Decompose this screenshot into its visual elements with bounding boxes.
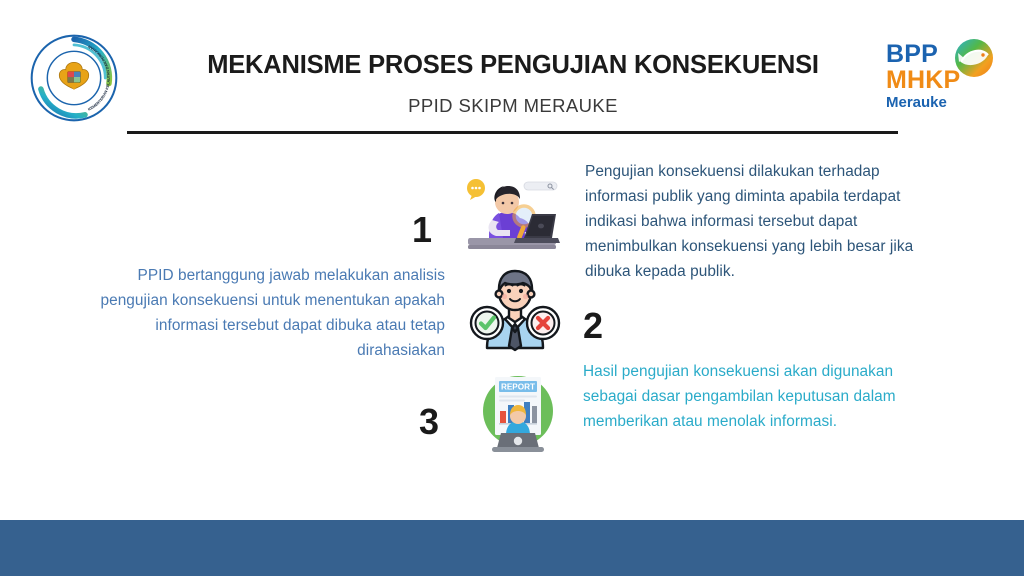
report-label: REPORT (501, 383, 535, 392)
slide: KEMENTERIAN KELAUTAN DAN PERIKANAN MEKAN… (0, 0, 1024, 576)
report-chart-laptop-illustration: REPORT (468, 365, 568, 457)
man-with-check-and-cross-illustration (465, 260, 565, 352)
step-1-text: Pengujian konsekuensi dilakukan terhadap… (585, 160, 935, 285)
page-title: MEKANISME PROSES PENGUJIAN KONSEKUENSI (127, 50, 899, 81)
step-3-number: 3 (419, 404, 439, 440)
person-searching-laptop-illustration (462, 164, 562, 256)
step-2-text: PPID bertanggung jawab melakukan analisi… (100, 264, 445, 364)
kkp-logo: KEMENTERIAN KELAUTAN DAN PERIKANAN (28, 32, 120, 124)
page-subtitle: PPID SKIPM MERAUKE (127, 95, 899, 117)
bpp-wordmark: BPP MHKP Merauke (886, 42, 960, 110)
footer-bar (0, 520, 1024, 576)
bpp-line-3: Merauke (886, 95, 960, 110)
bpp-mhkp-merauke-logo: BPP MHKP Merauke (886, 36, 1006, 114)
title-block: MEKANISME PROSES PENGUJIAN KONSEKUENSI P… (127, 50, 899, 117)
steps-container: 1 (0, 160, 1024, 480)
step-3-text: Hasil pengujian konsekuensi akan digunak… (583, 360, 923, 435)
bpp-line-1: BPP (886, 42, 960, 68)
step-1-number: 1 (412, 212, 432, 248)
step-2-number: 2 (583, 308, 603, 344)
title-divider (127, 131, 898, 134)
bpp-line-2: MHKP (886, 68, 960, 94)
